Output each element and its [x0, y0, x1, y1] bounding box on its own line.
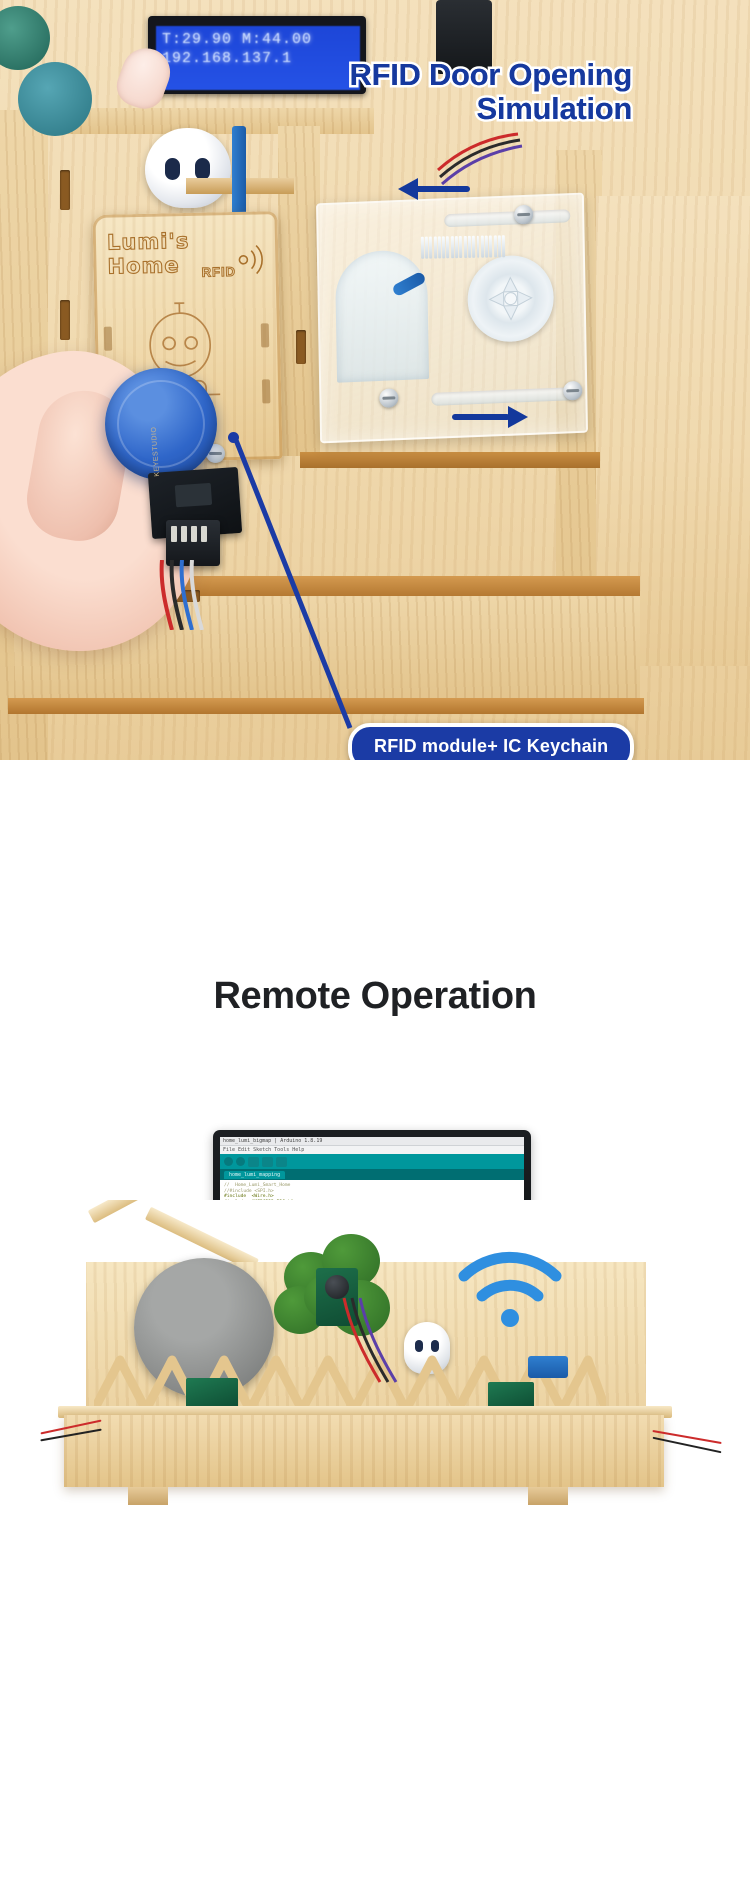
- plate-slot-a: [104, 327, 113, 351]
- ide-title-bar: home_lumi_bigmap | Arduino 1.8.19: [220, 1137, 524, 1146]
- wood-slot-a: [60, 170, 70, 210]
- screw-acrylic-bl: [379, 388, 398, 408]
- robot-eye-right: [195, 158, 210, 180]
- headline-line-2-fill: Simulation: [477, 91, 632, 126]
- ide-toolbar[interactable]: [220, 1154, 524, 1169]
- base-foot-right: [528, 1487, 568, 1505]
- tag-ring: [117, 380, 205, 468]
- rail-bottom: [431, 387, 575, 406]
- wood-slot-d: [296, 330, 306, 364]
- section-title: Remote Operation: [0, 975, 750, 1018]
- arrow-left-icon: [398, 178, 470, 200]
- ide-menu-bar: File Edit Sketch Tools Help: [220, 1146, 524, 1154]
- base-foot-left: [128, 1487, 168, 1505]
- plate-subtitle: RFID: [201, 264, 236, 280]
- rail-top: [444, 209, 570, 227]
- new-file-icon[interactable]: [248, 1157, 259, 1167]
- plate-slot-c: [261, 323, 270, 347]
- blue-support-stick: [232, 126, 246, 218]
- tree-wires: [336, 1296, 426, 1386]
- rfid-chip: [175, 483, 212, 507]
- ic-keychain-tag: [105, 368, 217, 480]
- module-wires: [150, 560, 236, 630]
- callout-leader-line: [232, 436, 362, 736]
- ide-tab-bar[interactable]: home_lumi_mapping: [220, 1169, 524, 1180]
- save-file-icon[interactable]: [276, 1157, 287, 1167]
- house-base: [64, 1415, 664, 1487]
- wooden-house-photo: [36, 1200, 736, 1530]
- blue-module-right: [528, 1356, 568, 1378]
- headline-line-1-fill: RFID Door Opening: [350, 57, 632, 92]
- callout-anchor-dot: [228, 432, 239, 443]
- open-file-icon[interactable]: [262, 1157, 273, 1167]
- wifi-icon: [454, 1246, 566, 1332]
- robot-eye-right: [431, 1340, 439, 1352]
- door-window: [335, 249, 429, 383]
- robot-eye-left: [165, 158, 180, 180]
- lumi-robot-icon: [145, 128, 231, 208]
- upload-icon[interactable]: [236, 1157, 245, 1166]
- lcd-line-1: T:29.90 M:44.00: [162, 30, 354, 49]
- rfid-door-opening-photo: T:29.90 M:44.00 192.168.137.1 Lumi's Hom…: [0, 0, 750, 760]
- gear-cross-icon: [487, 275, 534, 323]
- blue-reel-icon: [18, 62, 92, 136]
- tab-sketch[interactable]: home_lumi_mapping: [224, 1171, 285, 1179]
- status-badge: RFID module+ IC Keychain: [348, 723, 634, 760]
- arrow-right-icon: [452, 406, 528, 428]
- remote-operation-section: Remote Operation home_lumi_bigmap | Ardu…: [0, 760, 750, 1892]
- verify-icon[interactable]: [224, 1157, 233, 1166]
- rack-teeth-icon: [420, 235, 506, 258]
- plate-slot-d: [262, 379, 271, 403]
- wood-column-mid: [278, 126, 320, 456]
- wood-slot-b: [60, 300, 70, 340]
- screw-acrylic-tr: [563, 381, 582, 401]
- roof-left: [88, 1200, 201, 1223]
- page-title: RFID Door Opening Simulation: [232, 58, 632, 126]
